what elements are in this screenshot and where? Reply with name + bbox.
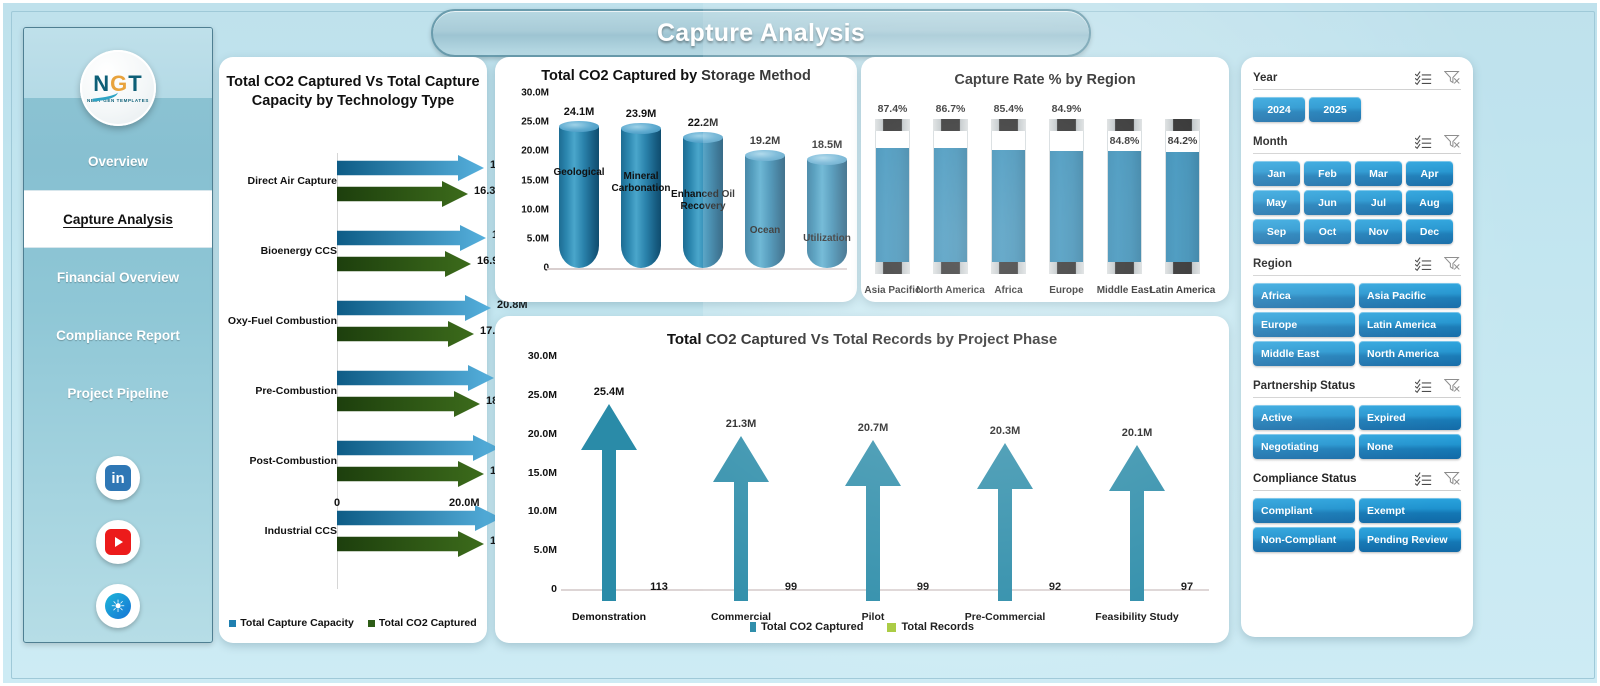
slicer-header: Compliance Status — [1253, 468, 1461, 491]
battery-bar[interactable]: 84.8%Middle East — [1107, 119, 1142, 274]
slicer-options: CompliantExemptNon-CompliantPending Revi… — [1253, 491, 1461, 559]
battery-fill — [1166, 152, 1199, 262]
bar-body — [559, 127, 599, 268]
slicer-title: Month — [1253, 136, 1287, 148]
clear-filter-icon[interactable] — [1444, 471, 1461, 486]
filter-chip-asia-pacific[interactable]: Asia Pacific — [1359, 283, 1461, 308]
filter-panel: Year20242025MonthJanFebMarAprMayJunJulAu… — [1241, 57, 1473, 637]
clear-filter-icon[interactable] — [1444, 378, 1461, 393]
funnel-row: Bioenergy CCS19.7M16.9M — [219, 223, 487, 293]
funnel-row: Post-Combustion22.3M19.3M — [219, 433, 487, 503]
bar-body — [807, 160, 847, 268]
filter-chip-jun[interactable]: Jun — [1304, 190, 1351, 215]
legend-swatch — [887, 623, 896, 632]
x-axis-line — [547, 268, 847, 270]
category-label: Oxy-Fuel Combustion — [207, 315, 337, 327]
capacity-arrow — [337, 365, 494, 391]
filter-chip-may[interactable]: May — [1253, 190, 1300, 215]
filter-chip-compliant[interactable]: Compliant — [1253, 498, 1355, 523]
filter-chip-2024[interactable]: 2024 — [1253, 97, 1305, 122]
arrow-column[interactable]: 20.1M97Feasibility Study — [1109, 368, 1165, 601]
battery-bottom-cap — [875, 262, 910, 274]
legend-item: Total Capture Capacity — [229, 617, 354, 629]
y-tick-label: 20.0M — [528, 428, 557, 440]
value-label: 86.7% — [917, 103, 984, 115]
bar-body — [621, 129, 661, 268]
co2-value-label: 21.3M — [691, 418, 791, 430]
filter-chip-pending-review[interactable]: Pending Review — [1359, 527, 1461, 552]
battery-fill — [934, 148, 967, 262]
legend-swatch — [229, 620, 236, 627]
y-tick-label: 25.0M — [528, 389, 557, 401]
capacity-arrow — [337, 225, 486, 251]
records-value-label: 99 — [873, 581, 973, 593]
battery-bottom-cap — [933, 262, 968, 274]
filter-chip-middle-east[interactable]: Middle East — [1253, 341, 1355, 366]
filter-chip-africa[interactable]: Africa — [1253, 283, 1355, 308]
slicer-header: Year — [1253, 67, 1461, 90]
sidebar-item-label: Project Pipeline — [67, 386, 168, 401]
linkedin-link[interactable]: in — [96, 456, 140, 500]
category-label: Direct Air Capture — [207, 175, 337, 187]
battery-bar[interactable]: 87.4%Asia Pacific — [875, 119, 910, 274]
battery-top-cap — [1049, 119, 1084, 131]
filter-chip-latin-america[interactable]: Latin America — [1359, 312, 1461, 337]
capacity-arrow — [337, 155, 484, 181]
value-label: 18.5M — [797, 139, 857, 151]
dashboard-root: NGT NEXT GEN TEMPLATES Overview Capture … — [0, 0, 1600, 686]
sidebar-nav: Overview Capture Analysis Financial Over… — [24, 132, 212, 422]
slicer-header: Month — [1253, 131, 1461, 154]
slicer-icon-group — [1415, 256, 1461, 271]
globe-icon: ☀ — [105, 593, 131, 619]
captured-arrow — [337, 251, 471, 277]
category-label: Bioenergy CCS — [207, 245, 337, 257]
battery-bottom-cap — [1049, 262, 1084, 274]
filter-chip-none[interactable]: None — [1359, 434, 1461, 459]
cylinder-bar[interactable]: 19.2MOcean — [745, 156, 785, 268]
slicer-region: RegionAfricaAsia PacificEuropeLatin Amer… — [1253, 253, 1461, 373]
chart-card-technology-type: Total CO2 Captured Vs Total Capture Capa… — [219, 57, 487, 643]
sidebar-item-label: Capture Analysis — [63, 212, 173, 227]
battery-fill — [1108, 151, 1141, 262]
filter-chip-dec[interactable]: Dec — [1406, 219, 1453, 244]
category-label: Pre-Combustion — [207, 385, 337, 397]
linkedin-icon: in — [105, 465, 131, 491]
slicer-partnership-status: Partnership StatusActiveExpiredNegotiati… — [1253, 375, 1461, 466]
youtube-link[interactable] — [96, 520, 140, 564]
arrow-column[interactable]: 20.3M92Pre-Commercial — [977, 368, 1033, 601]
co2-value-label: 25.4M — [559, 386, 659, 398]
cylinder-chart: 05.0M10.0M15.0M20.0M25.0M30.0M 24.1MGeol… — [495, 93, 857, 301]
slicer-title: Compliance Status — [1253, 473, 1357, 485]
y-tick-label: 10.0M — [528, 505, 557, 517]
sidebar-item-project-pipeline[interactable]: Project Pipeline — [24, 364, 212, 422]
records-value-label: 97 — [1137, 581, 1237, 593]
category-label: Enhanced Oil Recovery — [667, 189, 739, 213]
slicer-month: MonthJanFebMarAprMayJunJulAugSepOctNovDe… — [1253, 131, 1461, 251]
battery-fill — [876, 148, 909, 262]
arrow-column[interactable]: 25.4M113Demonstration — [581, 368, 637, 601]
legend-swatch — [368, 620, 375, 627]
page-header: Capture Analysis — [431, 9, 1091, 57]
chart-card-project-phase: Total CO2 Captured Vs Total Records by P… — [495, 316, 1229, 643]
arrow-shape — [1109, 445, 1165, 601]
slicer-options: ActiveExpiredNegotiatingNone — [1253, 398, 1461, 466]
bar-series: 24.1MGeological23.9MMineral Carbonation2… — [551, 93, 851, 268]
youtube-icon — [105, 529, 131, 555]
legend-label: Total Records — [901, 621, 974, 633]
y-tick-label: 0 — [551, 583, 557, 595]
cylinder-bar[interactable]: 18.5MUtilization — [807, 160, 847, 268]
y-tick-label: 25.0M — [521, 117, 549, 128]
sidebar-item-compliance-report[interactable]: Compliance Report — [24, 306, 212, 364]
x-tick-label: 20.0M — [449, 497, 480, 509]
bar-cap — [745, 150, 785, 161]
bar-cap — [683, 132, 723, 143]
cylinder-bar[interactable]: 24.1MGeological — [559, 127, 599, 268]
captured-arrow — [337, 321, 474, 347]
battery-top-cap — [933, 119, 968, 131]
battery-chart: 87.4%Asia Pacific86.7%North America85.4%… — [869, 95, 1225, 300]
y-tick-label: 30.0M — [528, 350, 557, 362]
battery-bar[interactable]: 86.7%North America — [933, 119, 968, 274]
funnel-row: Oxy-Fuel Combustion20.8M17.4M — [219, 293, 487, 363]
slicer-title: Region — [1253, 258, 1292, 270]
battery-bar[interactable]: 84.2%Latin America — [1165, 119, 1200, 274]
multi-select-icon[interactable] — [1415, 70, 1432, 85]
y-axis-ticks: 05.0M10.0M15.0M20.0M25.0M30.0M — [501, 93, 549, 273]
clear-filter-icon[interactable] — [1444, 134, 1461, 149]
legend-label: Total Capture Capacity — [240, 617, 354, 629]
slicer-header: Partnership Status — [1253, 375, 1461, 398]
filter-chip-apr[interactable]: Apr — [1406, 161, 1453, 186]
value-label: 84.2% — [1149, 135, 1216, 147]
y-tick-label: 15.0M — [528, 467, 557, 479]
legend-item: Total Records — [887, 621, 974, 633]
legend-label: Total CO2 Captured — [379, 617, 477, 629]
y-axis-ticks: 05.0M10.0M15.0M20.0M25.0M30.0M — [495, 356, 557, 591]
x-tick-label: 0 — [334, 497, 340, 509]
filter-chip-negotiating[interactable]: Negotiating — [1253, 434, 1355, 459]
legend-swatch — [750, 622, 756, 632]
filter-chip-2025[interactable]: 2025 — [1309, 97, 1361, 122]
legend-label: Total CO2 Captured — [761, 621, 863, 633]
arrow-column[interactable]: 20.7M99Pilot — [845, 368, 901, 601]
filter-chip-non-compliant[interactable]: Non-Compliant — [1253, 527, 1355, 552]
battery-bottom-cap — [1107, 262, 1142, 274]
filter-chip-aug[interactable]: Aug — [1406, 190, 1453, 215]
slicer-compliance-status: Compliance StatusCompliantExemptNon-Comp… — [1253, 468, 1461, 559]
filter-chip-feb[interactable]: Feb — [1304, 161, 1351, 186]
app-logo: NGT NEXT GEN TEMPLATES — [80, 50, 156, 126]
captured-arrow — [337, 461, 484, 487]
page-title: Capture Analysis — [657, 19, 865, 48]
filter-chip-expired[interactable]: Expired — [1359, 405, 1461, 430]
slicer-header: Region — [1253, 253, 1461, 276]
arrow-shape — [581, 404, 637, 601]
sidebar-item-financial-overview[interactable]: Financial Overview — [24, 248, 212, 306]
funnel-x-axis: 020.0M — [219, 497, 487, 515]
filter-chip-europe[interactable]: Europe — [1253, 312, 1355, 337]
sidebar-item-label: Overview — [88, 154, 148, 169]
capacity-arrow — [337, 295, 491, 321]
clear-filter-icon[interactable] — [1444, 256, 1461, 271]
battery-bottom-cap — [1165, 262, 1200, 274]
value-label: 85.4% — [975, 103, 1042, 115]
captured-arrow — [337, 391, 480, 417]
value-label: 87.4% — [859, 103, 926, 115]
battery-fill — [1050, 151, 1083, 262]
slicer-icon-group — [1415, 134, 1461, 149]
y-tick-label: 5.0M — [534, 544, 557, 556]
captured-arrow — [337, 531, 484, 557]
value-label: 84.9% — [1033, 103, 1100, 115]
multi-select-icon[interactable] — [1415, 134, 1432, 149]
chart-card-storage-method: Total CO2 Captured by Storage Method 05.… — [495, 57, 857, 302]
battery-top-cap — [875, 119, 910, 131]
arrow-shape — [845, 440, 901, 601]
records-value-label: 113 — [609, 581, 709, 593]
chart-title: Capture Rate % by Region — [861, 71, 1229, 90]
capacity-arrow — [337, 435, 499, 461]
clear-filter-icon[interactable] — [1444, 70, 1461, 85]
y-tick-label: 10.0M — [521, 204, 549, 215]
battery-bottom-cap — [991, 262, 1026, 274]
slicer-title: Year — [1253, 72, 1277, 84]
battery-bar[interactable]: 84.9%Europe — [1049, 119, 1084, 274]
legend-item: Total CO2 Captured — [750, 621, 863, 633]
multi-select-icon[interactable] — [1415, 471, 1432, 486]
funnel-row: Direct Air Capture19.3M16.3M — [219, 153, 487, 223]
records-value-label: 99 — [741, 581, 841, 593]
arrow-column-chart: 05.0M10.0M15.0M20.0M25.0M30.0M 25.4M113D… — [495, 356, 1229, 601]
slicer-icon-group — [1415, 378, 1461, 393]
sidebar-item-label: Compliance Report — [56, 328, 180, 343]
funnel-row: Pre-Combustion21.4M18.6M — [219, 363, 487, 433]
slicer-year: Year20242025 — [1253, 67, 1461, 129]
slicer-options: 20242025 — [1253, 90, 1461, 129]
cylinder-bar[interactable]: 22.2MEnhanced Oil Recovery — [683, 138, 723, 268]
filter-chip-jul[interactable]: Jul — [1355, 190, 1402, 215]
filter-chip-active[interactable]: Active — [1253, 405, 1355, 430]
battery-bar[interactable]: 85.4%Africa — [991, 119, 1026, 274]
bar-cap — [621, 123, 661, 134]
filter-chip-mar[interactable]: Mar — [1355, 161, 1402, 186]
filter-chip-north-america[interactable]: North America — [1359, 341, 1461, 366]
category-label: Industrial CCS — [207, 525, 337, 537]
battery-top-cap — [1165, 119, 1200, 131]
co2-value-label: 20.7M — [823, 422, 923, 434]
social-links: in ☀ — [96, 456, 140, 643]
captured-arrow — [337, 181, 468, 207]
value-label: 23.9M — [611, 108, 671, 120]
chart-title: Total CO2 Captured Vs Total Records by P… — [495, 330, 1229, 349]
filter-chip-oct[interactable]: Oct — [1304, 219, 1351, 244]
y-tick-label: 30.0M — [521, 88, 549, 99]
value-label: 19.2M — [735, 135, 795, 147]
co2-value-label: 20.1M — [1087, 427, 1187, 439]
value-label: 22.2M — [673, 117, 733, 129]
slicer-icon-group — [1415, 471, 1461, 486]
value-label: 24.1M — [549, 106, 609, 118]
battery-top-cap — [991, 119, 1026, 131]
co2-value-label: 20.3M — [955, 425, 1055, 437]
legend-item: Total CO2 Captured — [368, 617, 477, 629]
bar-cap — [807, 154, 847, 165]
bar-body — [745, 156, 785, 268]
chart-legend: Total Capture Capacity Total CO2 Capture… — [219, 617, 487, 629]
chart-legend: Total CO2 Captured Total Records — [495, 621, 1229, 633]
slicer-options: AfricaAsia PacificEuropeLatin AmericaMid… — [1253, 276, 1461, 373]
filter-chip-jan[interactable]: Jan — [1253, 161, 1300, 186]
slicer-title: Partnership Status — [1253, 380, 1355, 392]
records-value-label: 92 — [1005, 581, 1105, 593]
chart-title: Total CO2 Captured Vs Total Capture Capa… — [219, 73, 487, 110]
funnel-chart: Direct Air Capture19.3M16.3MBioenergy CC… — [219, 153, 487, 608]
filter-chip-exempt[interactable]: Exempt — [1359, 498, 1461, 523]
website-link[interactable]: ☀ — [96, 584, 140, 628]
sidebar-item-capture-analysis[interactable]: Capture Analysis — [24, 190, 212, 248]
battery-fill — [992, 150, 1025, 262]
slicer-options: JanFebMarAprMayJunJulAugSepOctNovDec — [1253, 154, 1461, 251]
cylinder-bar[interactable]: 23.9MMineral Carbonation — [621, 129, 661, 268]
sidebar-item-label: Financial Overview — [57, 270, 179, 285]
sidebar-item-overview[interactable]: Overview — [24, 132, 212, 190]
chart-title: Total CO2 Captured by Storage Method — [495, 67, 857, 86]
arrow-column[interactable]: 21.3M99Commercial — [713, 368, 769, 601]
arrow-shape — [977, 443, 1033, 601]
category-label: Post-Combustion — [207, 455, 337, 467]
category-label: Latin America — [1143, 285, 1222, 296]
filter-chip-sep[interactable]: Sep — [1253, 219, 1300, 244]
multi-select-icon[interactable] — [1415, 378, 1432, 393]
multi-select-icon[interactable] — [1415, 256, 1432, 271]
battery-top-cap — [1107, 119, 1142, 131]
chart-card-capture-rate-region: Capture Rate % by Region 87.4%Asia Pacif… — [861, 57, 1229, 302]
slicer-icon-group — [1415, 70, 1461, 85]
arrow-shape — [713, 436, 769, 601]
value-label: 84.8% — [1091, 135, 1158, 147]
y-tick-label: 20.0M — [521, 146, 549, 157]
bar-cap — [559, 121, 599, 132]
sidebar: NGT NEXT GEN TEMPLATES Overview Capture … — [23, 27, 213, 643]
filter-chip-nov[interactable]: Nov — [1355, 219, 1402, 244]
category-label: Utilization — [791, 233, 863, 245]
y-tick-label: 5.0M — [527, 233, 549, 244]
